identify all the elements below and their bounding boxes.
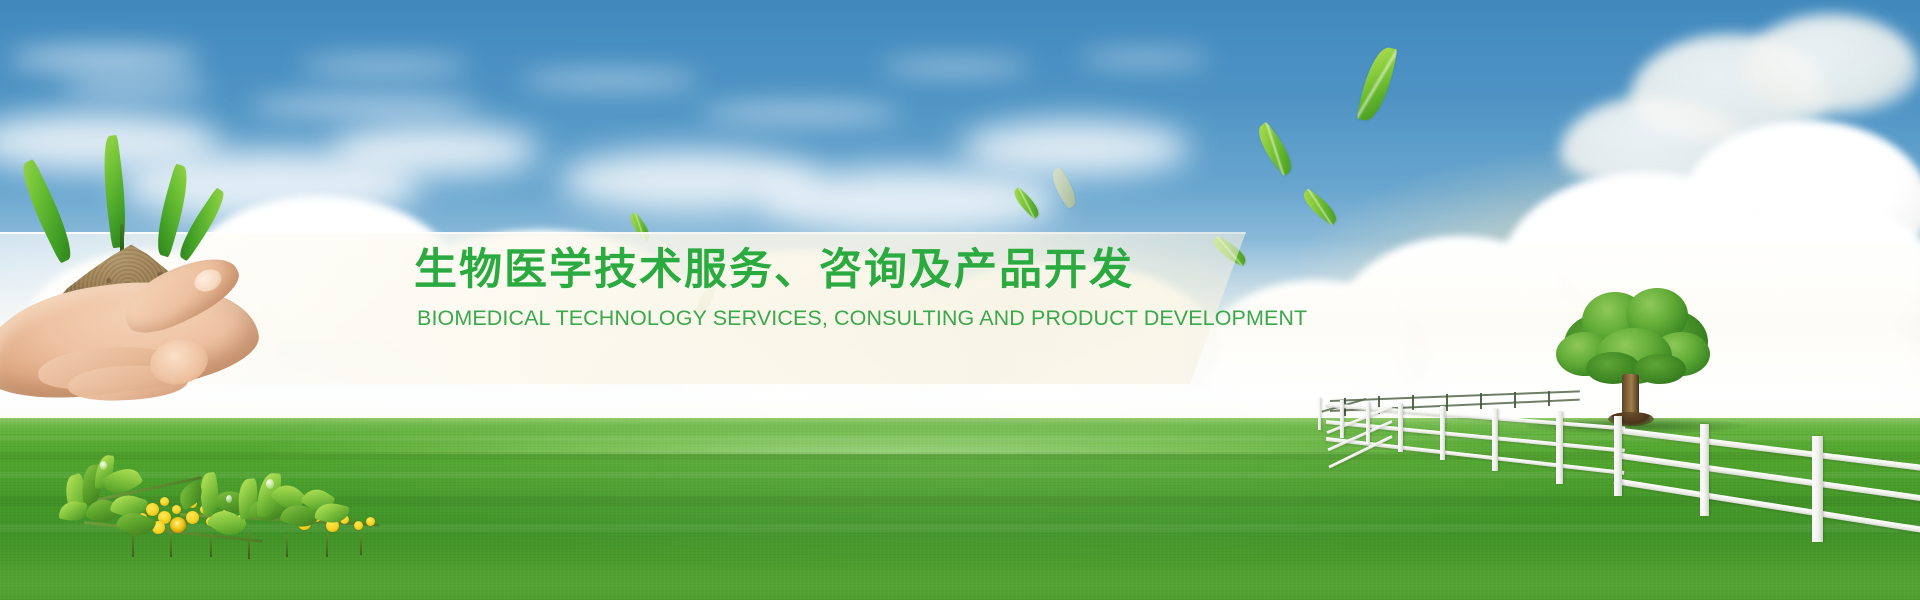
tree-canopy (1652, 332, 1710, 376)
cloud-cumulus (1200, 280, 1430, 420)
cloud-puff (960, 120, 1190, 176)
soil-mound (48, 240, 208, 318)
tree-shadow (1526, 418, 1746, 434)
distant-fence-post (1514, 392, 1516, 408)
cloud-wisp (300, 58, 470, 74)
sprout-stem (120, 224, 124, 254)
floating-leaf-icon (1356, 44, 1397, 124)
fence-post (1614, 416, 1622, 496)
fence-rail (1614, 478, 1920, 534)
cloud-wisp (1080, 52, 1210, 65)
sprout-leaf (98, 135, 131, 248)
tree-canopy (1586, 352, 1640, 384)
shrub-leaf (58, 499, 87, 523)
palm (0, 267, 264, 408)
page-title: 生物医学技术服务、咨询及产品开发 (414, 248, 1174, 293)
yellow-flower (188, 499, 197, 508)
cloud-cumulus (20, 250, 280, 400)
grass-light-band (0, 436, 1920, 441)
tree-canopy (1564, 314, 1634, 376)
page-subtitle: BIOMEDICAL TECHNOLOGY SERVICES, CONSULTI… (417, 306, 1217, 331)
cloud-cumulus (1330, 236, 1590, 406)
leaf-vein (1010, 187, 1044, 219)
cloud-puff (0, 112, 220, 172)
cloud-wisp (10, 46, 200, 72)
floating-leaf-icon (1010, 187, 1044, 219)
cloud-wisp (700, 104, 900, 122)
cloud-puff (330, 124, 540, 176)
shrub-leaf (60, 473, 95, 522)
cloud-cumulus (1430, 300, 1730, 430)
shrub-leaf (279, 500, 320, 533)
yellow-flower (146, 503, 159, 516)
yellow-flower (158, 511, 171, 524)
grass-dark-band (0, 496, 1920, 506)
sprout-leaf (150, 164, 195, 258)
shrub-leaf (94, 454, 114, 490)
distant-fence-post (1344, 398, 1346, 416)
finger (67, 363, 189, 403)
shrub-leaf (196, 472, 222, 517)
thumbnail (191, 265, 225, 296)
tree-trunk (1622, 374, 1639, 422)
yellow-flower (236, 515, 245, 524)
fence-post (1700, 424, 1709, 516)
shrub-leaf (236, 478, 260, 520)
leaf-vein (1356, 44, 1397, 124)
tree-canopy (1556, 332, 1614, 376)
leaf-vein (1209, 235, 1250, 266)
grass-light-band (0, 524, 1920, 532)
shrub-branch (84, 521, 263, 543)
floating-leaf-icon (1298, 188, 1341, 226)
cloud-cumulus (1650, 310, 1920, 430)
fence-rail (1614, 452, 1920, 502)
shrub-leaf (256, 472, 281, 517)
yellow-flower (160, 497, 169, 506)
cloud-cumulus (1680, 120, 1920, 270)
thumb (115, 244, 247, 344)
fence-rail (1326, 437, 1625, 475)
shrub-leaf (175, 480, 208, 510)
cloud-puff (760, 168, 1060, 234)
shrub-leaf (270, 478, 308, 516)
fence-rail (1326, 420, 1625, 453)
yellow-flower (340, 515, 349, 524)
fence-post (1340, 400, 1344, 438)
grass-sprig (210, 535, 212, 557)
knuckle (146, 334, 212, 389)
shrub-leaf (85, 494, 122, 527)
cloud-cumulus (1690, 200, 1920, 380)
fence-post (1318, 398, 1321, 430)
leaf-vein (1250, 122, 1299, 177)
distant-fence-rail (1322, 398, 1367, 413)
yellow-flower (366, 517, 375, 526)
grass-sprig (248, 533, 250, 559)
fence-post (1440, 406, 1445, 460)
distant-fence-post (1446, 394, 1448, 411)
cloud-cumulus (1560, 96, 1750, 192)
cloud-cumulus (1740, 14, 1920, 114)
shrub-leaf (213, 485, 252, 519)
cloud-wisp (250, 96, 480, 116)
dew-drop (226, 495, 232, 503)
shrub-branch (94, 476, 202, 502)
distant-fence-post (1412, 395, 1414, 412)
fence-post (1398, 404, 1403, 452)
shrub-leaf (300, 483, 336, 517)
distant-fence-rail (1330, 390, 1580, 402)
floating-leaf-icon (1250, 122, 1299, 177)
floating-leaf-icon (1046, 167, 1082, 209)
grass-sprig (286, 535, 288, 557)
hero-banner: 生物医学技术服务、咨询及产品开发 BIOMEDICAL TECHNOLOGY S… (0, 0, 1920, 600)
leaf-vein (626, 212, 654, 243)
tree-canopy (1634, 310, 1708, 374)
tree (1556, 288, 1712, 428)
grass-sprig (170, 533, 172, 557)
tree-root (1608, 412, 1654, 426)
tree-canopy (1634, 354, 1686, 384)
grass-sprig (132, 531, 134, 557)
grass-texture (0, 418, 1920, 600)
cloud-wisp (880, 60, 1030, 74)
cloud-cumulus (1500, 172, 1790, 342)
text-panel-top-line (0, 232, 1246, 234)
shrub-leaf (100, 461, 143, 500)
distant-fence-post (1378, 396, 1380, 414)
sky-background (0, 0, 1920, 430)
fence-post (1366, 402, 1370, 444)
yellow-flower (138, 513, 147, 522)
yellow-flower (354, 521, 363, 530)
sprout-leaf (173, 187, 231, 261)
cloud-puff (120, 150, 420, 222)
fence-post (1492, 409, 1498, 471)
cloud-wisp (520, 72, 700, 88)
shrub-branch (180, 513, 380, 526)
yellow-flower (298, 517, 311, 530)
shrub-leaf (115, 507, 157, 542)
tree-canopy (1582, 292, 1648, 350)
fence-rail (1327, 420, 1392, 451)
floating-leaf-icon (1209, 235, 1250, 266)
yellow-flower (152, 521, 165, 534)
yellow-flower (170, 517, 186, 533)
grass-vignette (0, 418, 1920, 600)
soil-texture (48, 240, 208, 318)
yellow-flower (200, 505, 209, 514)
sprout-leaf (14, 159, 80, 264)
fence-rail (1328, 435, 1392, 468)
yellow-flower (326, 519, 339, 532)
grass-horizon-crown (0, 414, 1920, 454)
yellow-flower (172, 505, 181, 514)
cloud-cumulus (1630, 34, 1830, 144)
dew-drop (266, 479, 274, 489)
yellow-flower (222, 509, 231, 518)
cloud-puff (560, 150, 820, 212)
fence-post (1812, 436, 1823, 542)
grass-light-band (0, 472, 1920, 478)
shrub-with-flowers (60, 455, 390, 580)
shrub-leaf (109, 490, 148, 521)
hand-holding-sprout (0, 220, 310, 400)
grass-dark-band (0, 452, 1920, 460)
shrub-leaf (314, 499, 350, 526)
shrub-leaf (81, 464, 104, 505)
yellow-flower (186, 511, 199, 524)
grass-sprig (360, 535, 362, 555)
yellow-flower (312, 513, 321, 522)
fence-rail (1614, 427, 1920, 472)
dew-drop (100, 461, 107, 470)
fence-rail (1326, 403, 1625, 431)
distant-fence-rail (1330, 399, 1580, 412)
distant-fence-post (1548, 391, 1550, 406)
grass-sprig (326, 533, 328, 557)
tree-canopy (1626, 288, 1688, 342)
distant-fence-post (1480, 393, 1482, 409)
grass-field (0, 418, 1920, 600)
shrub-leaf (248, 495, 287, 526)
fence-post (1556, 412, 1563, 484)
cloud-wisp (60, 78, 210, 96)
sky-warm-glow (1300, 150, 1920, 390)
shrub-leaf (206, 504, 248, 543)
floating-leaf-icon (626, 212, 654, 243)
fence-rail (1327, 405, 1393, 434)
leaf-vein (1298, 188, 1341, 226)
yellow-flower (206, 517, 215, 526)
tree-canopy (1596, 328, 1672, 384)
finger (37, 342, 180, 394)
